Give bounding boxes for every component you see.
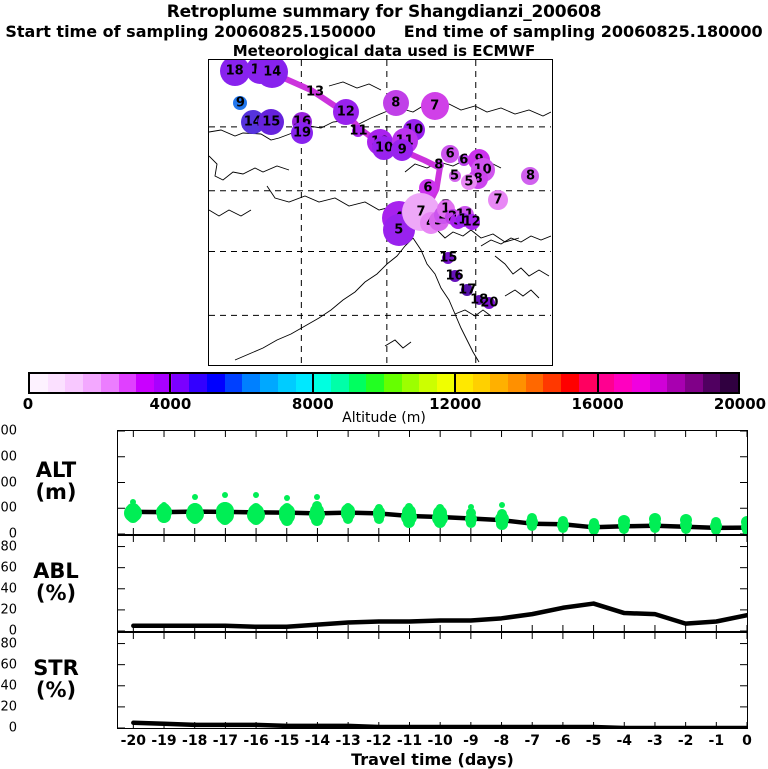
colorbar-swatch — [331, 374, 349, 392]
ytick-label-alt: 20000 — [0, 424, 17, 439]
xaxis-title: Travel time (days) — [117, 750, 748, 769]
alt-scatter-dot — [281, 514, 293, 526]
ytick-label-alt: 15000 — [0, 449, 17, 464]
xtick-label: -15 — [274, 733, 299, 749]
met-data-line: Meteorological data used is ECMWF — [0, 42, 768, 60]
xtick-label: -17 — [213, 733, 238, 749]
alt-scatter-dot — [253, 492, 259, 498]
map-marker-label: 5 — [464, 174, 473, 189]
alt-scatter-dot — [160, 515, 168, 523]
map-marker-label: 7 — [430, 99, 439, 114]
alt-scatter-dot — [284, 495, 290, 501]
page-title: Retroplume summary for Shangdianzi_20060… — [0, 0, 768, 22]
xtick-label: -8 — [494, 733, 510, 749]
colorbar-swatch — [437, 374, 455, 392]
colorbar-swatch — [561, 374, 579, 392]
map-marker-label: 7 — [493, 192, 502, 207]
xtick-label: -1 — [709, 733, 725, 749]
xtick-label: -12 — [366, 733, 391, 749]
map-marker-label: 19 — [293, 125, 311, 140]
map-marker-label: 9 — [236, 95, 245, 110]
map-coastlines — [209, 60, 551, 364]
ytick-label-abl: 80 — [0, 539, 17, 554]
alt-scatter-dot — [374, 514, 384, 524]
alt-scatter-dot — [496, 518, 508, 530]
colorbar-swatch — [172, 374, 190, 392]
str-series-plot — [118, 633, 747, 728]
panel-label-primary: ALT — [36, 458, 76, 482]
map-marker-label: 9 — [398, 142, 407, 157]
alt-scatter-dot — [558, 523, 568, 533]
alt-scatter-dot — [311, 514, 323, 526]
colorbar-swatch — [579, 374, 597, 392]
colorbar-swatch — [455, 374, 473, 392]
colorbar-swatch — [526, 374, 544, 392]
map-marker-label: 5 — [450, 169, 459, 184]
alt-scatter-dot — [619, 524, 629, 534]
map-marker-label: 15 — [262, 114, 280, 129]
colorbar-swatch — [349, 374, 367, 392]
xtick-label: -2 — [678, 733, 694, 749]
colorbar-swatch — [101, 374, 119, 392]
xtick-label: -9 — [463, 733, 479, 749]
colorbar-swatch — [366, 374, 384, 392]
colorbar-swatch — [419, 374, 437, 392]
colorbar-swatch — [207, 374, 225, 392]
alt-scatter-dot — [314, 494, 320, 500]
alt-scatter-dot — [711, 525, 721, 535]
colorbar-swatch — [720, 374, 738, 392]
alt-scatter-dot — [127, 511, 139, 523]
xtick-label: -3 — [647, 733, 663, 749]
colorbar-swatch — [667, 374, 685, 392]
alt-scatter-dot — [192, 494, 198, 500]
colorbar-swatch — [189, 374, 207, 392]
xtick-label: -14 — [305, 733, 330, 749]
colorbar-swatch — [225, 374, 243, 392]
colorbar-swatch — [278, 374, 296, 392]
xtick-label: -20 — [121, 733, 146, 749]
alt-scatter-dot — [527, 521, 537, 531]
colorbar-tick-mark — [312, 372, 314, 394]
colorbar-swatch — [48, 374, 66, 392]
colorbar-swatch — [83, 374, 101, 392]
xtick-label: -19 — [151, 733, 176, 749]
xtick-label: -18 — [182, 733, 207, 749]
panel-label-primary: ABL — [33, 559, 79, 583]
colorbar-swatch — [65, 374, 83, 392]
colorbar-swatch — [614, 374, 632, 392]
panel-str[interactable] — [117, 632, 748, 729]
panel-axis-label-abl: ABL(%) — [8, 560, 104, 604]
map-marker-label: 8 — [526, 169, 535, 184]
ytick-label-abl: 40 — [0, 581, 17, 596]
colorbar-tick-mark — [454, 372, 456, 394]
colorbar-swatch — [119, 374, 137, 392]
colorbar-swatch — [136, 374, 154, 392]
ytick-label-str: 20 — [0, 699, 17, 714]
map-marker-label: 16 — [446, 269, 464, 284]
alt-scatter-dot — [343, 514, 353, 524]
xtick-label: -5 — [586, 733, 602, 749]
ytick-label-str: 80 — [0, 636, 17, 651]
colorbar-swatch — [296, 374, 314, 392]
alt-scatter-dot — [589, 525, 599, 535]
xtick-label: 0 — [742, 733, 752, 749]
alt-scatter-dot — [650, 523, 660, 533]
colorbar-swatch — [260, 374, 278, 392]
colorbar-swatch — [473, 374, 491, 392]
map-marker-label: 6 — [459, 153, 468, 168]
ytick-label-abl: 20 — [0, 602, 17, 617]
colorbar-swatch — [543, 374, 561, 392]
colorbar-swatch — [650, 374, 668, 392]
map-marker-label: 6 — [446, 147, 455, 162]
colorbar-swatch — [597, 374, 615, 392]
map-marker-label: 20 — [480, 295, 498, 310]
ytick-label-alt: 5000 — [0, 501, 17, 516]
colorbar-tick-mark — [597, 372, 599, 394]
panel-label-unit: (%) — [36, 581, 76, 605]
colorbar-swatch — [508, 374, 526, 392]
map-marker-label: 15 — [439, 250, 457, 265]
ytick-label-abl: 60 — [0, 560, 17, 575]
xtick-label: -10 — [428, 733, 453, 749]
alt-scatter-dot — [222, 492, 228, 498]
ytick-label-str: 40 — [0, 678, 17, 693]
colorbar-swatch — [490, 374, 508, 392]
xtick-label: -16 — [243, 733, 268, 749]
ytick-label-str: 0 — [9, 721, 17, 736]
map-marker-label: 8 — [391, 95, 400, 110]
xtick-label: -13 — [335, 733, 360, 749]
colorbar-swatch — [685, 374, 703, 392]
ytick-label-str: 60 — [0, 657, 17, 672]
map-marker-label: 11 — [349, 123, 367, 138]
alt-scatter-dot — [499, 502, 505, 508]
panel-abl[interactable] — [117, 535, 748, 632]
sampling-time-line: Start time of sampling 20060825.150000 E… — [0, 22, 768, 42]
alt-scatter-dot — [742, 525, 748, 535]
retroplume-map[interactable]: 1817141391415161912118710101011986691085… — [208, 59, 553, 366]
panel-axis-label-alt: ALT(m) — [8, 459, 104, 503]
map-marker-label: 13 — [306, 84, 324, 99]
colorbar-swatch — [242, 374, 260, 392]
panel-label-primary: STR — [33, 656, 79, 680]
panel-axis-label-str: STR(%) — [8, 657, 104, 701]
panel-label-unit: (%) — [36, 678, 76, 702]
xtick-label: -7 — [524, 733, 540, 749]
map-marker-label: 12 — [337, 105, 355, 120]
colorbar-swatch — [384, 374, 402, 392]
colorbar-swatch — [402, 374, 420, 392]
alt-scatter-dot — [250, 513, 262, 525]
altitude-colorbar[interactable] — [28, 372, 740, 394]
xtick-label: -6 — [555, 733, 571, 749]
colorbar-swatch — [313, 374, 331, 392]
colorbar-tick-mark — [169, 372, 171, 394]
panel-alt[interactable] — [117, 430, 748, 535]
map-marker-label: 14 — [263, 65, 281, 80]
colorbar-swatch — [632, 374, 650, 392]
ytick-label-alt: 10000 — [0, 475, 17, 490]
map-marker-label: 12 — [463, 214, 481, 229]
alt-scatter-dot — [219, 513, 231, 525]
alt-scatter-dot — [189, 512, 201, 524]
colorbar-swatch — [30, 374, 48, 392]
abl-series-plot — [118, 536, 747, 631]
colorbar-swatch — [703, 374, 721, 392]
colorbar-title: Altitude (m) — [0, 410, 768, 426]
alt-scatter-dot — [434, 516, 446, 528]
alt-scatter-dot — [403, 516, 415, 528]
xtick-label: -11 — [397, 733, 422, 749]
alt-scatter-dot — [681, 524, 691, 534]
title-block: Retroplume summary for Shangdianzi_20060… — [0, 0, 768, 60]
panel-label-unit: (m) — [35, 480, 76, 504]
xtick-label: -4 — [616, 733, 632, 749]
alt-scatter-dot — [466, 518, 476, 528]
map-marker-label: 5 — [394, 223, 403, 238]
map-marker-label: 18 — [226, 63, 244, 78]
